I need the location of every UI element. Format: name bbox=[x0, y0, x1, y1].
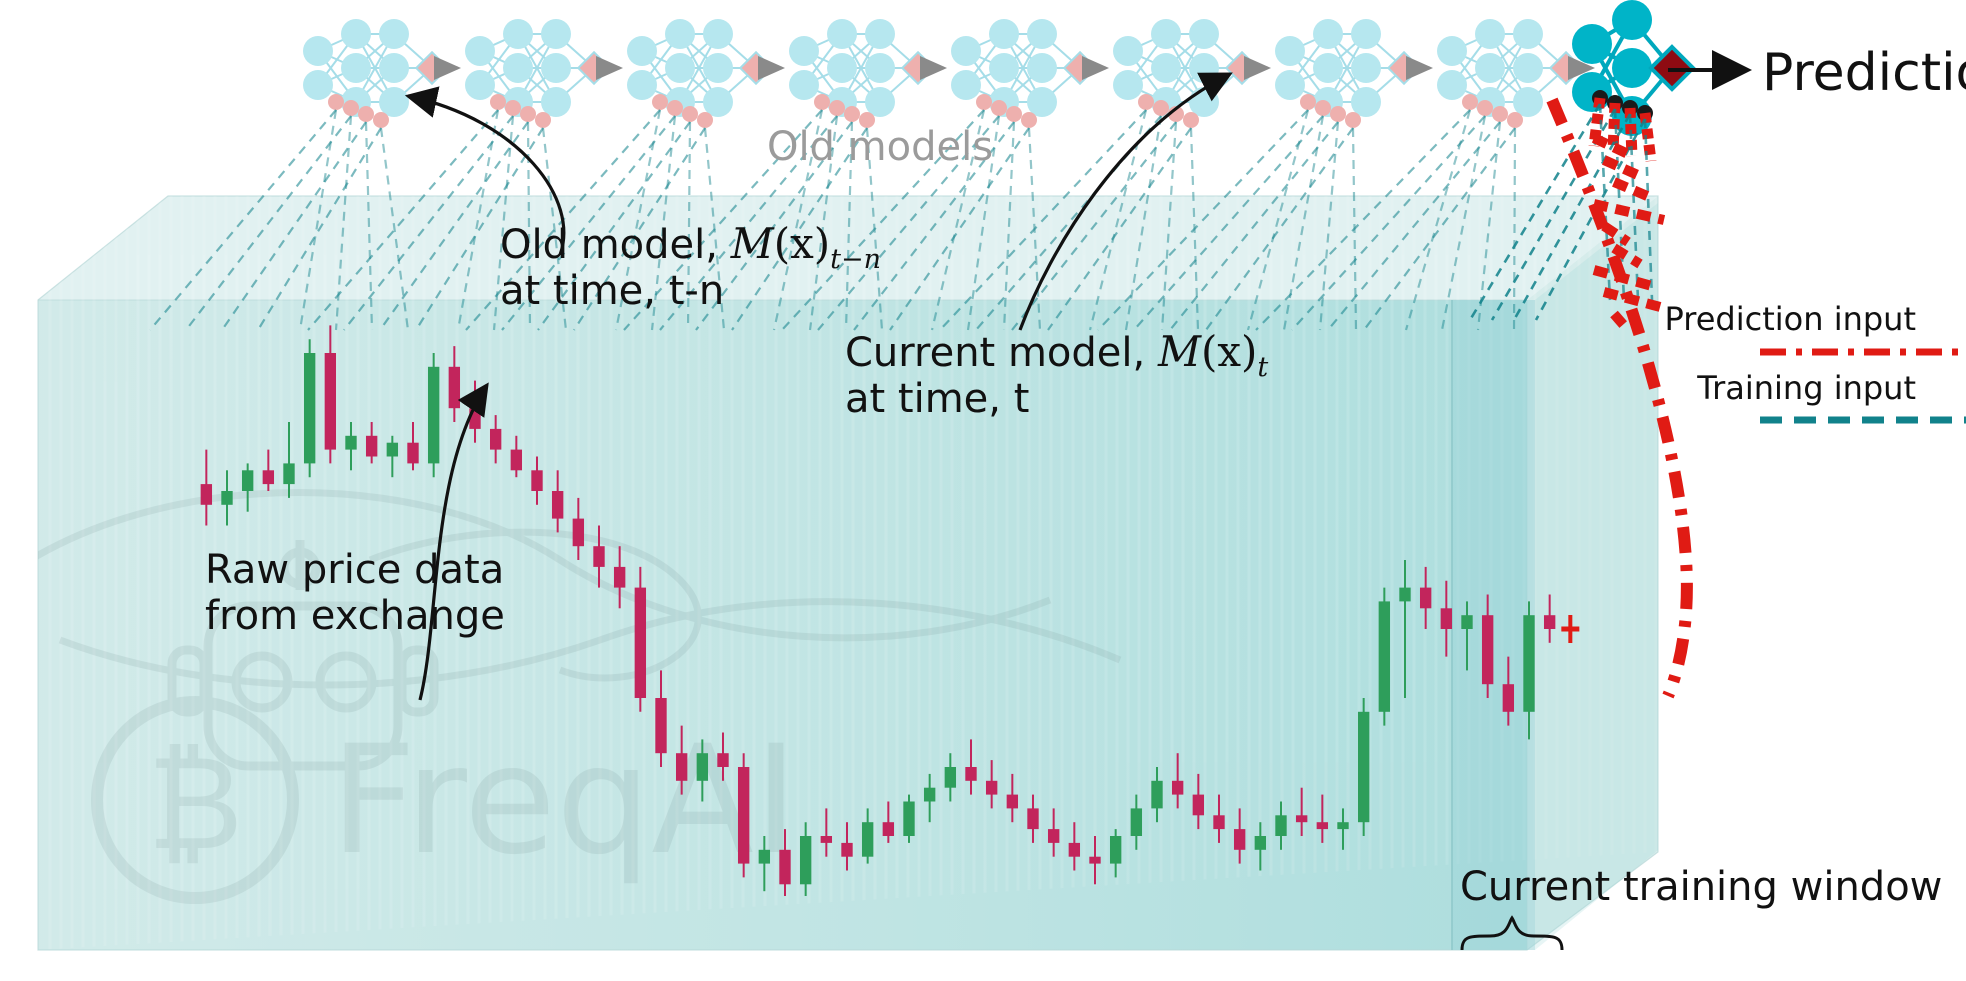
prediction-label: Prediction bbox=[1762, 43, 1966, 103]
raw-price-line2: from exchange bbox=[205, 593, 505, 639]
current-training-window-label: Current training window bbox=[1460, 864, 1942, 910]
legend: Prediction input Training input bbox=[1665, 300, 1966, 420]
current-model-annotation-line1: Current model, M(x)t bbox=[845, 327, 1268, 383]
old-model-annotation-line2: at time, t-n bbox=[500, 268, 724, 314]
raw-price-line1: Raw price data bbox=[205, 547, 504, 593]
old-model-annotation-line1: Old model, M(x)t−n bbox=[500, 219, 881, 275]
diagram-canvas: ₿ FreqAI Prediction bbox=[0, 0, 1966, 981]
current-model-annotation-line2: at time, t bbox=[845, 376, 1029, 422]
old-models-label: Old models bbox=[767, 124, 993, 170]
legend-label-training-input: Training input bbox=[1696, 369, 1916, 407]
svg-text:₿: ₿ bbox=[147, 727, 243, 879]
legend-label-prediction-input: Prediction input bbox=[1665, 300, 1916, 338]
